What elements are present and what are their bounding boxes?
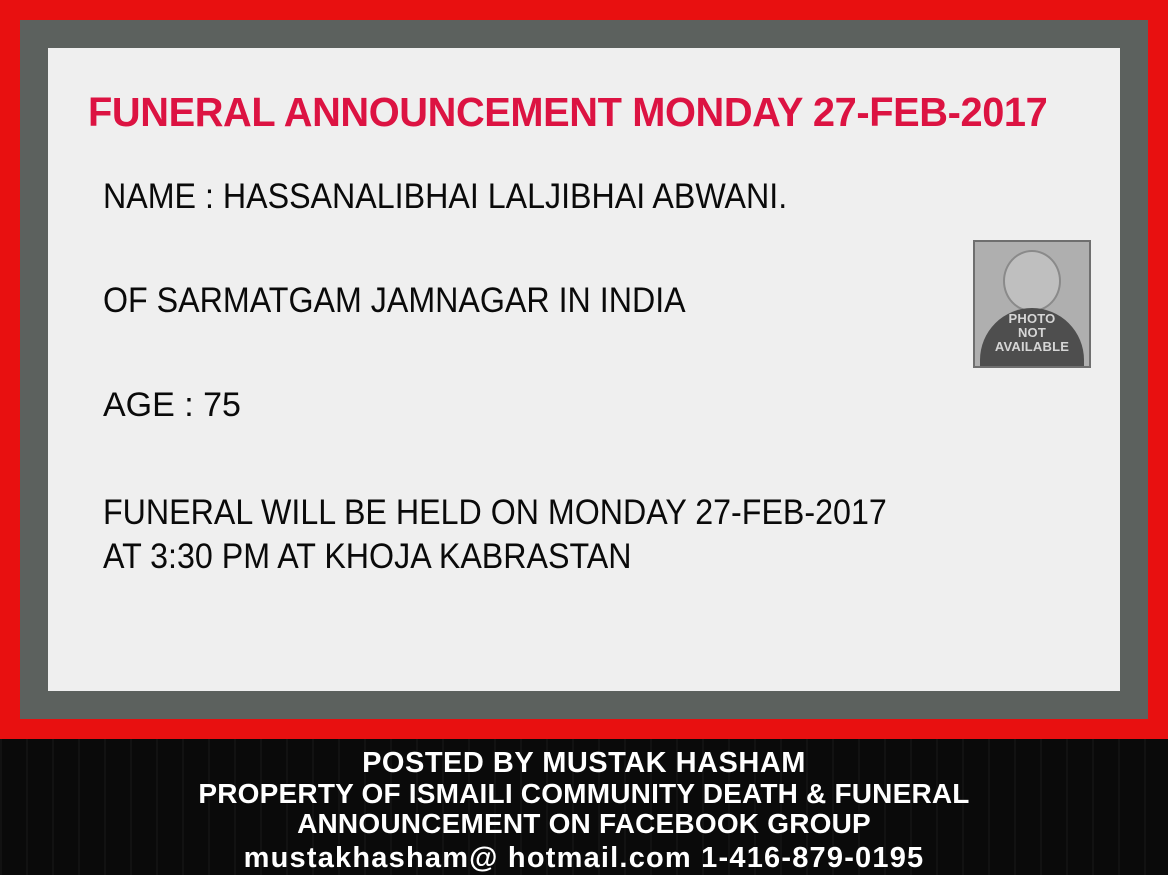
footer-property-line: PROPERTY OF ISMAILI COMMUNITY DEATH & FU… [0, 779, 1168, 809]
gray-inner-frame: FUNERAL ANNOUNCEMENT MONDAY 27-FEB-2017 … [20, 20, 1148, 719]
announcement-title: FUNERAL ANNOUNCEMENT MONDAY 27-FEB-2017 [88, 90, 1068, 134]
footer-group-line: ANNOUNCEMENT ON FACEBOOK GROUP [0, 809, 1168, 839]
service-datetime-line: FUNERAL WILL BE HELD ON MONDAY 27-FEB-20… [103, 494, 1023, 532]
photo-caption-line-1: PHOTO [975, 312, 1089, 326]
person-avatar-icon: PHOTO NOT AVAILABLE [973, 240, 1091, 368]
red-outer-border: FUNERAL ANNOUNCEMENT MONDAY 27-FEB-2017 … [0, 0, 1168, 739]
deceased-name-line: NAME : HASSANALIBHAI LALJIBHAI ABWANI. [103, 178, 1023, 216]
avatar-head-shape [1003, 250, 1061, 312]
deceased-age-line: AGE : 75 [103, 386, 1103, 424]
photo-placeholder: PHOTO NOT AVAILABLE [969, 236, 1095, 372]
photo-not-available-caption: PHOTO NOT AVAILABLE [975, 312, 1089, 354]
footer-posted-by: POSTED BY MUSTAK HASHAM [0, 747, 1168, 779]
funeral-announcement-poster: FUNERAL ANNOUNCEMENT MONDAY 27-FEB-2017 … [0, 0, 1168, 875]
photo-caption-line-3: AVAILABLE [975, 340, 1089, 354]
service-location-line: AT 3:30 PM AT KHOJA KABRASTAN [103, 538, 1023, 576]
photo-caption-line-2: NOT [975, 326, 1089, 340]
deceased-place-line: OF SARMATGAM JAMNAGAR IN INDIA [103, 282, 1023, 320]
announcement-card: FUNERAL ANNOUNCEMENT MONDAY 27-FEB-2017 … [48, 48, 1120, 691]
announcement-body: NAME : HASSANALIBHAI LALJIBHAI ABWANI. O… [103, 178, 1103, 576]
poster-footer: POSTED BY MUSTAK HASHAM PROPERTY OF ISMA… [0, 739, 1168, 875]
footer-contact-line: mustakhasham@ hotmail.com 1-416-879-0195 [0, 842, 1168, 874]
